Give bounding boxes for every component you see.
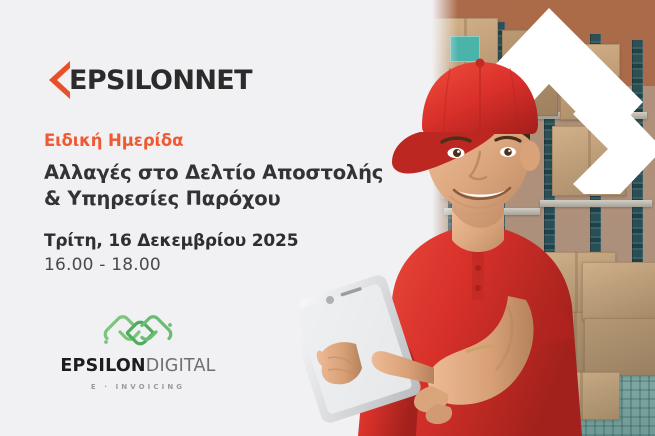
event-title: Αλλαγές στο Δελτίο Αποστολής & Υπηρεσίες… xyxy=(44,160,383,212)
event-date: Τρίτη, 16 Δεκεμβρίου 2025 xyxy=(44,231,298,251)
epsilon-digital-tagline: E · INVOICING xyxy=(48,383,228,391)
epsilonnet-logo[interactable]: EPSILONNET xyxy=(44,58,252,102)
event-time: 16.00 - 18.00 xyxy=(44,255,161,275)
event-eyebrow: Ειδική Ημερίδα xyxy=(44,131,183,150)
banner-content: EPSILONNET Ειδική Ημερίδα Αλλαγές στο Δε… xyxy=(44,0,404,436)
epsilon-digital-word-light: DIGITAL xyxy=(146,356,216,376)
event-banner: EPSILONNET Ειδική Ημερίδα Αλλαγές στο Δε… xyxy=(0,0,655,436)
epsilon-digital-word-bold: EPSILON xyxy=(60,356,145,376)
event-title-line1: Αλλαγές στο Δελτίο Αποστολής xyxy=(44,160,383,186)
event-title-line2: & Υπηρεσίες Παρόχου xyxy=(44,186,383,212)
chevron-watermark xyxy=(453,0,655,194)
epsilonnet-chevron-icon xyxy=(44,59,72,101)
epsilon-digital-logo[interactable]: EPSILONDIGITAL E · INVOICING xyxy=(48,312,228,391)
epsilonnet-wordmark: EPSILONNET xyxy=(69,67,252,94)
epsilon-digital-wordmark: EPSILONDIGITAL xyxy=(48,358,228,376)
epsilon-digital-mark-icon xyxy=(100,312,176,354)
